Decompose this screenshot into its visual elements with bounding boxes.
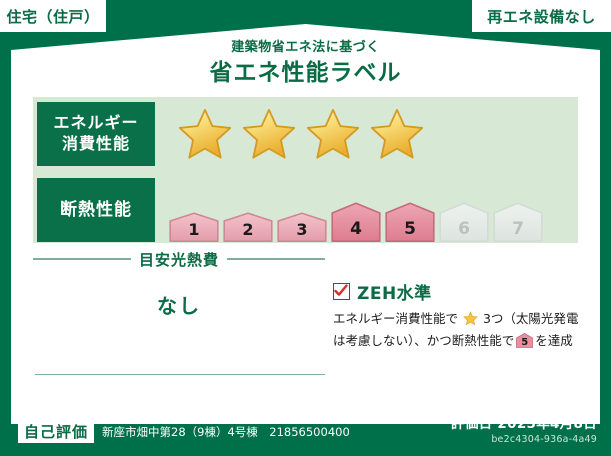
insulation-grade-4: 4 — [331, 202, 381, 242]
zeh-block: ZEH水準 エネルギー消費性能で 3つ（太陽光発電は考慮しない）、かつ断熱性能で… — [333, 279, 583, 351]
grade-number: 5 — [385, 221, 435, 238]
star-rating — [177, 107, 425, 161]
insulation-grade-3: 3 — [277, 212, 327, 242]
zeh-description-part1: エネルギー消費性能で — [333, 311, 458, 326]
insulation-grade-icon-inline: 5 — [516, 333, 533, 348]
performance-panel: エネルギー 消費性能 断熱性能 1234567 — [33, 97, 578, 243]
energy-cost-underline — [35, 374, 325, 375]
energy-cost-value: なし — [33, 290, 325, 319]
title-subtitle: 建築物省エネ法に基づく — [0, 40, 611, 56]
energy-performance-label-line1: エネルギー — [53, 113, 138, 132]
zeh-title: ZEH水準 — [357, 279, 432, 304]
zeh-description-part3: を達成 — [535, 333, 573, 348]
grade-number: 1 — [169, 222, 219, 238]
footer-left: 自己評価 新座市畑中第28（9棟）4号棟 21856500400 — [18, 421, 350, 444]
zeh-description-part2: 3つ（太陽光発電 — [483, 311, 578, 326]
insulation-grade-1: 1 — [169, 212, 219, 242]
insulation-grade-2: 2 — [223, 212, 273, 242]
energy-performance-row: エネルギー 消費性能 — [37, 102, 578, 166]
grade-number: 2 — [223, 222, 273, 238]
grade-number: 3 — [277, 222, 327, 238]
star-icon — [305, 107, 361, 161]
insulation-performance-label: 断熱性能 — [37, 178, 155, 242]
grade-number: 7 — [493, 221, 543, 238]
star-icon — [177, 107, 233, 161]
self-evaluation-tag: 自己評価 — [18, 421, 94, 444]
energy-performance-label-line2: 消費性能 — [62, 134, 130, 153]
grade-number: 6 — [439, 221, 489, 238]
insulation-performance-row: 断熱性能 1234567 — [37, 178, 578, 242]
title-block: 建築物省エネ法に基づく 省エネ性能ラベル — [0, 40, 611, 87]
insulation-grade-5: 5 — [385, 202, 435, 242]
insulation-performance-label-text: 断熱性能 — [60, 199, 132, 221]
heading-rule-left — [33, 258, 131, 260]
grade-number: 4 — [331, 221, 381, 238]
zeh-checkbox-checked[interactable] — [333, 283, 350, 300]
zeh-heading: ZEH水準 — [333, 279, 583, 304]
star-icon — [369, 107, 425, 161]
insulation-grade-icon-value: 5 — [516, 338, 533, 348]
energy-performance-value — [155, 102, 578, 166]
zeh-description-line2-part1: は考慮しない）、かつ断熱性能で — [333, 333, 514, 348]
evaluation-id: be2c4304-936a-4a49 — [451, 434, 597, 445]
star-icon — [241, 107, 297, 161]
evaluation-date: 評価日 2025年4月8日 — [451, 412, 597, 432]
dwelling-type-label: 住宅（住戸） — [6, 6, 99, 27]
zeh-description: エネルギー消費性能で 3つ（太陽光発電は考慮しない）、かつ断熱性能で 5 を達成 — [333, 309, 583, 351]
insulation-grade-7: 7 — [493, 202, 543, 242]
heading-rule-right — [227, 258, 325, 260]
energy-performance-label: 住宅（住戸） 再エネ設備なし 建築物省エネ法に基づく 省エネ性能ラベル エネルギ… — [0, 0, 611, 456]
insulation-performance-value: 1234567 — [155, 178, 578, 242]
dwelling-type-tag: 住宅（住戸） — [0, 0, 106, 32]
building-address: 新座市畑中第28（9棟）4号棟 21856500400 — [102, 424, 350, 440]
footer-right: 評価日 2025年4月8日 be2c4304-936a-4a49 — [451, 412, 597, 445]
energy-cost-heading: 目安光熱費 — [33, 249, 325, 269]
energy-performance-label: エネルギー 消費性能 — [37, 102, 155, 166]
page-title: 省エネ性能ラベル — [0, 59, 611, 88]
insulation-grade-6: 6 — [439, 202, 489, 242]
renewable-equipment-tag: 再エネ設備なし — [472, 0, 611, 32]
renewable-equipment-label: 再エネ設備なし — [487, 6, 596, 27]
energy-cost-heading-label: 目安光熱費 — [131, 249, 227, 270]
star-icon-inline — [459, 314, 482, 329]
panel-row-gap — [37, 166, 578, 178]
insulation-grade-strip: 1234567 — [155, 178, 543, 242]
